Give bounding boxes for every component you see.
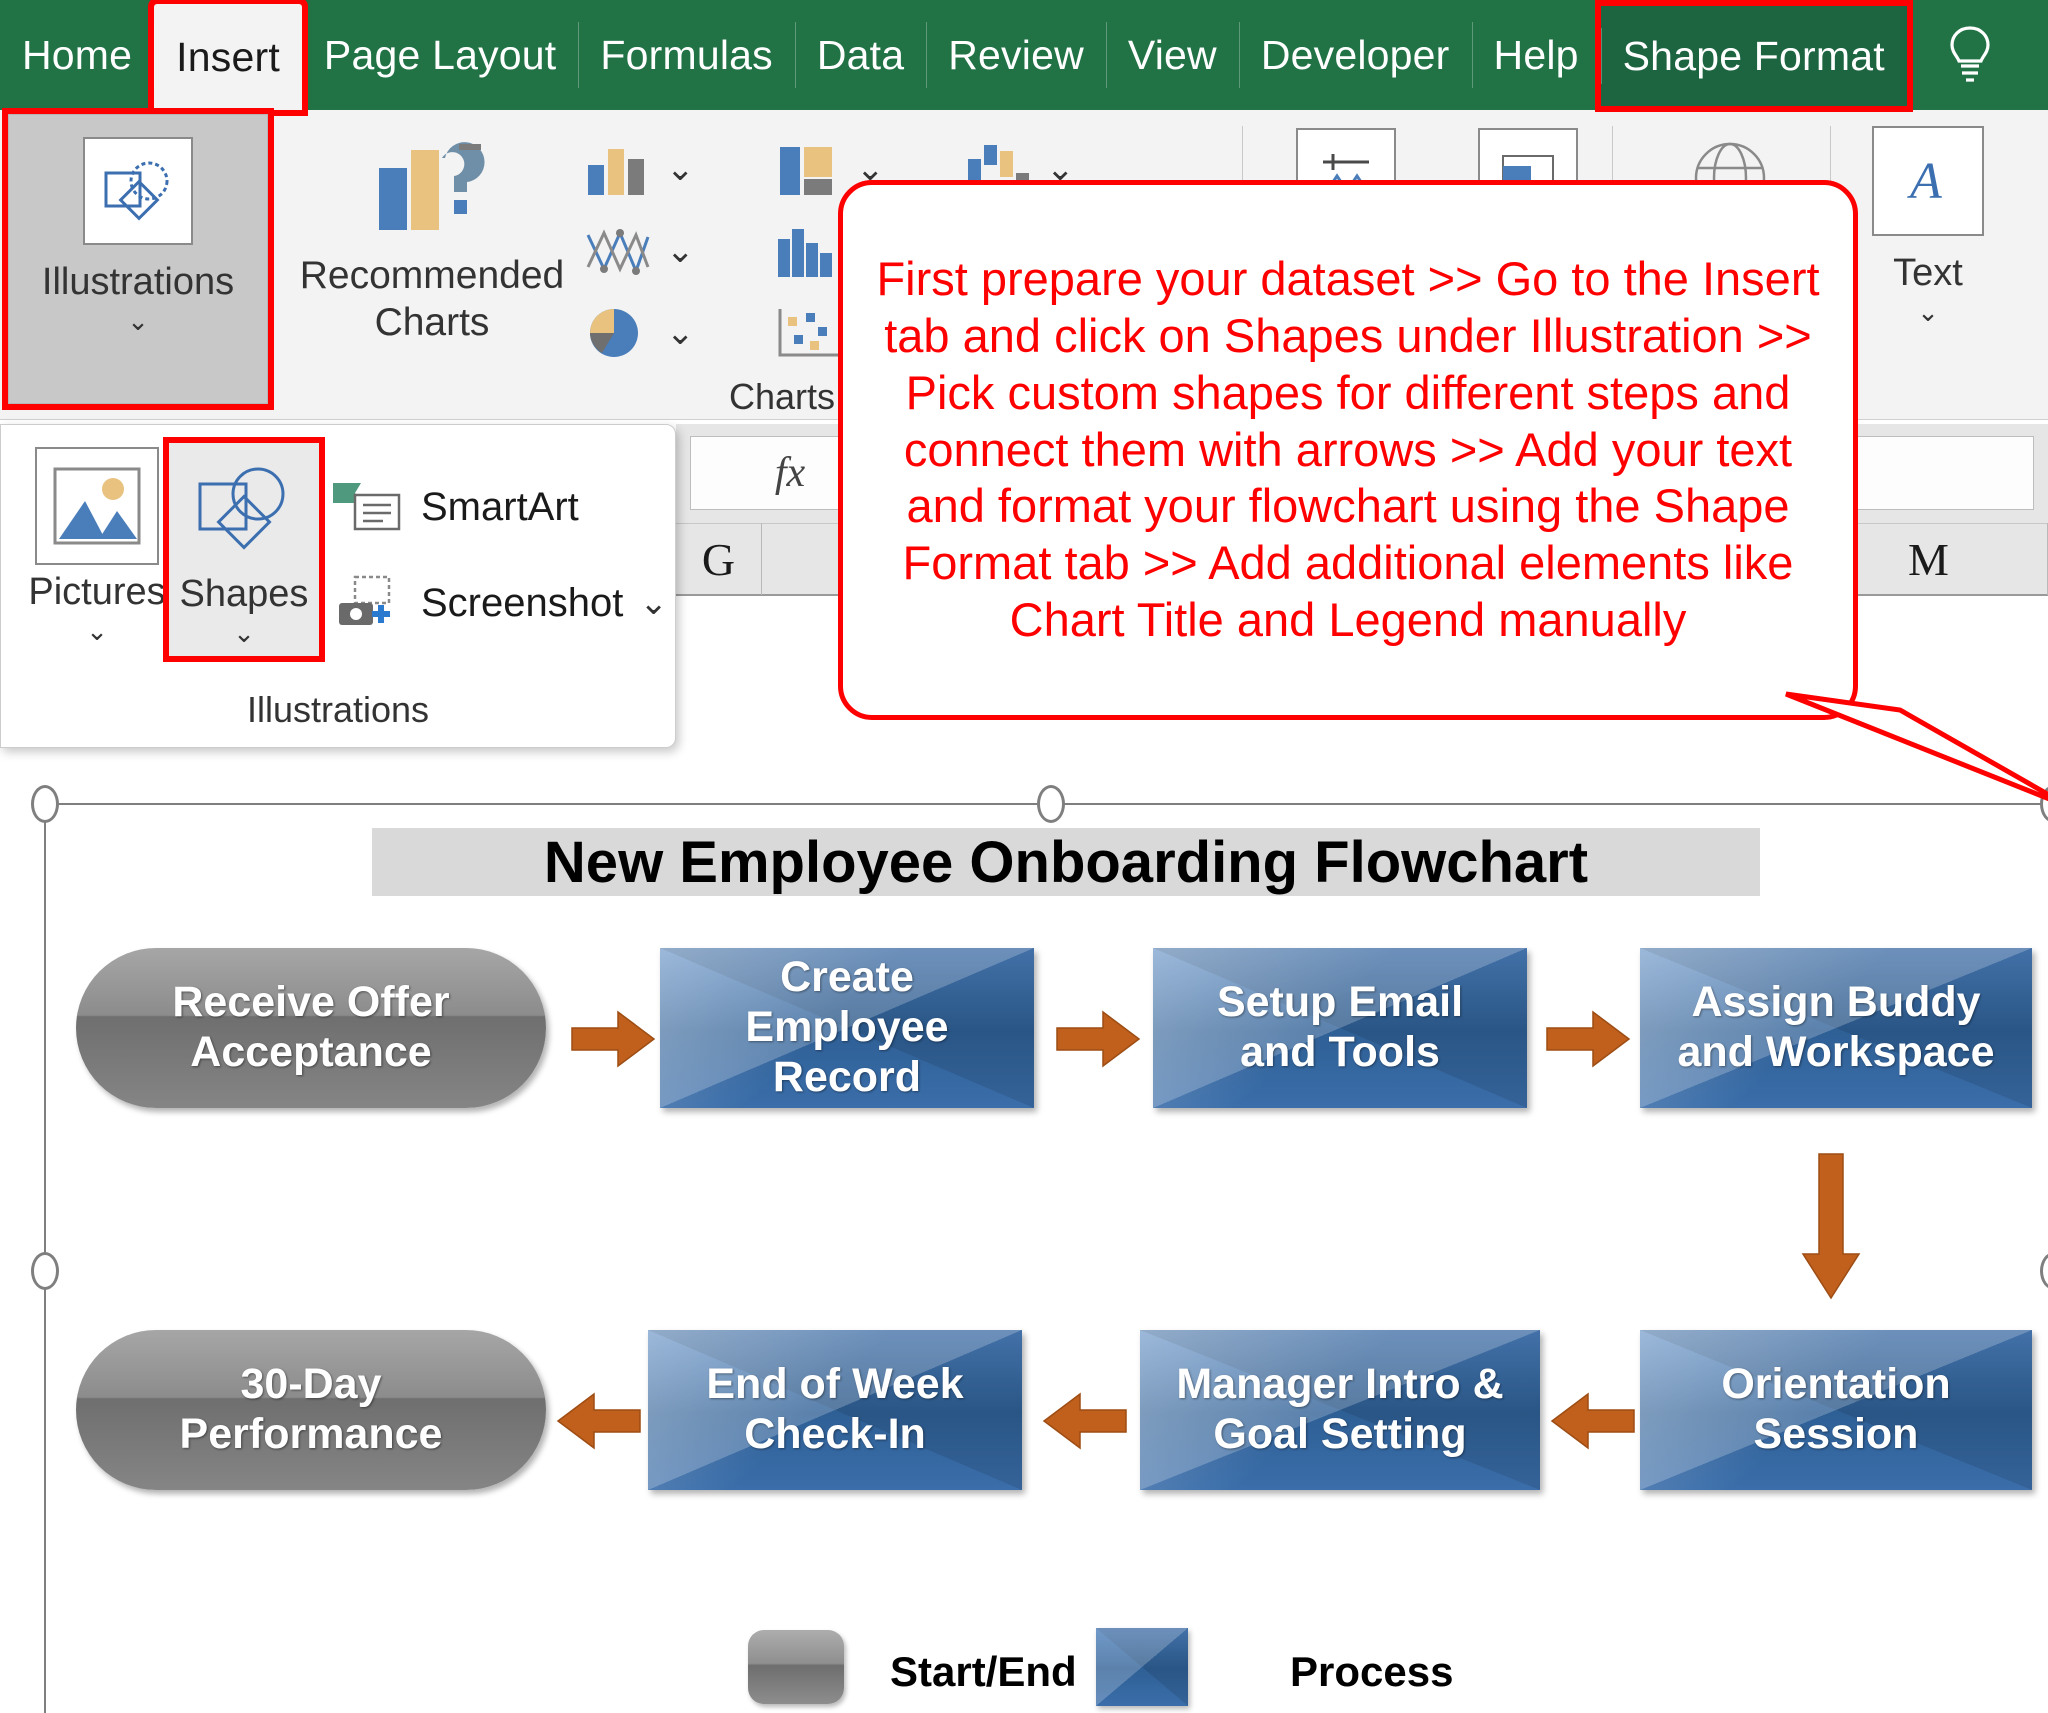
text-group-label: Text [1838, 252, 2018, 295]
excel-window: Home Insert Page Layout Formulas Data Re… [0, 0, 2048, 1713]
node-label: CreateEmployeeRecord [745, 953, 948, 1103]
column-chart-icon [582, 139, 656, 199]
chevron-down-icon: ⌄ [175, 620, 313, 646]
tab-view-label: View [1128, 32, 1217, 79]
node-label: OrientationSession [1721, 1360, 1950, 1460]
waterfall-chart-icon [772, 139, 846, 199]
tab-developer-label: Developer [1261, 32, 1450, 79]
illustrations-group-button[interactable]: Illustrations ⌄ [8, 114, 268, 404]
chevron-down-icon[interactable]: ⌄ [666, 231, 695, 271]
node-label: End of WeekCheck-In [706, 1360, 963, 1460]
tell-me-button[interactable] [1933, 0, 2007, 110]
tab-help[interactable]: Help [1472, 0, 1601, 110]
legend-label-process: Process [1290, 1648, 1453, 1696]
flowchart-arrow-right-2 [1055, 1008, 1141, 1075]
tab-home-label: Home [22, 32, 132, 79]
tab-review[interactable]: Review [926, 0, 1106, 110]
tab-home[interactable]: Home [0, 0, 154, 110]
illustrations-dropdown-footer-label: Illustrations [1, 689, 675, 731]
tab-formulas[interactable]: Formulas [578, 0, 794, 110]
flowchart-arrow-left-1 [556, 1390, 642, 1457]
pie-chart-button[interactable]: ⌄ [582, 292, 772, 374]
dropdown-item-pictures[interactable]: Pictures ⌄ [27, 447, 167, 644]
instruction-callout: First prepare your dataset >> Go to the … [838, 180, 1858, 720]
flowchart-node-create-employee-record[interactable]: CreateEmployeeRecord [660, 948, 1034, 1108]
tab-developer[interactable]: Developer [1239, 0, 1472, 110]
illustrations-label: Illustrations [42, 261, 234, 304]
selection-handle-middle-left[interactable] [31, 1252, 59, 1290]
svg-text:A: A [1907, 153, 1942, 210]
illustrations-icon-frame [83, 137, 193, 245]
tab-insert[interactable]: Insert [154, 4, 302, 110]
chevron-down-icon[interactable]: ⌄ [666, 313, 695, 353]
dropdown-right-column: SmartArt Screenshot ⌄ [331, 459, 668, 651]
flowchart-node-30-day-performance[interactable]: 30-DayPerformance [76, 1330, 546, 1490]
dropdown-item-screenshot[interactable]: Screenshot ⌄ [331, 555, 668, 651]
legend-swatch-start-end [748, 1630, 844, 1704]
shapes-icon [100, 157, 176, 225]
dropdown-item-shapes[interactable]: Shapes ⌄ [169, 443, 319, 656]
tab-view[interactable]: View [1106, 0, 1239, 110]
tab-review-label: Review [948, 32, 1084, 79]
flowchart-node-setup-email-and-tools[interactable]: Setup Emailand Tools [1153, 948, 1527, 1108]
tab-help-label: Help [1494, 32, 1579, 79]
legend-label-start-end: Start/End [890, 1648, 1077, 1696]
chevron-down-icon[interactable]: ⌄ [639, 583, 668, 623]
chevron-down-icon[interactable]: ⌄ [666, 149, 695, 189]
tab-shape-format[interactable]: Shape Format [1601, 6, 1907, 106]
flowchart-node-receive-offer-acceptance[interactable]: Receive OfferAcceptance [76, 948, 546, 1108]
flowchart-arrow-left-3 [1550, 1390, 1636, 1457]
dropdown-item-pictures-label: Pictures [27, 571, 167, 614]
tab-page-layout[interactable]: Page Layout [302, 0, 578, 110]
tab-insert-label: Insert [176, 34, 280, 81]
flowchart-node-end-of-week-check-in[interactable]: End of WeekCheck-In [648, 1330, 1022, 1490]
line-chart-button[interactable]: ⌄ [582, 210, 772, 292]
flowchart-node-assign-buddy-and-workspace[interactable]: Assign Buddyand Workspace [1640, 948, 2032, 1108]
selection-handle-top-center[interactable] [1037, 785, 1065, 823]
fx-icon: fx [775, 449, 805, 497]
flowchart-arrow-right-3 [1545, 1008, 1631, 1075]
shapes-icon-frame [182, 451, 306, 569]
chevron-down-icon: ⌄ [27, 618, 167, 644]
dropdown-item-shapes-label: Shapes [175, 573, 313, 616]
tab-page-layout-label: Page Layout [324, 32, 556, 79]
chevron-down-icon: ⌄ [127, 308, 149, 334]
text-group-button[interactable]: A Text ⌄ [1838, 126, 2018, 325]
legend-swatch-process [1096, 1628, 1188, 1706]
recommended-charts-icon [367, 128, 497, 240]
screenshot-icon [331, 573, 405, 633]
dropdown-item-smartart-label: SmartArt [421, 485, 579, 530]
flowchart-title: New Employee Onboarding Flowchart [372, 828, 1760, 896]
selection-handle-top-left[interactable] [31, 785, 59, 823]
node-label: Receive OfferAcceptance [172, 978, 449, 1078]
node-label: Setup Emailand Tools [1217, 978, 1463, 1078]
dropdown-item-screenshot-label: Screenshot [421, 581, 623, 626]
illustrations-dropdown-panel: Pictures ⌄ Shapes ⌄ SmartArt [0, 424, 676, 748]
worksheet-canvas [0, 596, 2048, 1713]
flowchart-arrow-right-1 [570, 1008, 656, 1075]
tab-shape-format-label: Shape Format [1623, 33, 1885, 80]
pie-chart-icon [582, 303, 656, 363]
flowchart-node-orientation-session[interactable]: OrientationSession [1640, 1330, 2032, 1490]
column-header-g[interactable]: G [676, 523, 762, 595]
chevron-down-icon: ⌄ [1838, 299, 2018, 325]
flowchart-arrow-left-2 [1042, 1390, 1128, 1457]
dropdown-item-smartart[interactable]: SmartArt [331, 459, 668, 555]
pictures-icon-frame [35, 447, 159, 565]
line-chart-icon [582, 221, 656, 281]
scatter-chart-icon [772, 303, 846, 363]
shapes-icon [192, 462, 296, 558]
callout-tail [1780, 690, 2048, 830]
text-box-icon: A [1900, 148, 1956, 214]
recommended-charts-label-line2: Charts [292, 301, 572, 346]
instruction-callout-text: First prepare your dataset >> Go to the … [869, 251, 1827, 649]
recommended-charts-button[interactable]: Recommended Charts [292, 128, 572, 346]
ribbon-tab-bar: Home Insert Page Layout Formulas Data Re… [0, 0, 2048, 110]
pictures-icon [51, 463, 143, 549]
node-label: Assign Buddyand Workspace [1677, 978, 1994, 1078]
smartart-icon [331, 477, 405, 537]
flowchart-node-manager-intro-goal-setting[interactable]: Manager Intro &Goal Setting [1140, 1330, 1540, 1490]
column-chart-button[interactable]: ⌄ [582, 128, 772, 210]
tab-data-label: Data [817, 32, 904, 79]
lightbulb-icon [1947, 24, 1993, 86]
tab-formulas-label: Formulas [600, 32, 772, 79]
node-label: Manager Intro &Goal Setting [1176, 1360, 1503, 1460]
text-box-frame: A [1872, 126, 1984, 236]
tab-data[interactable]: Data [795, 0, 926, 110]
histogram-chart-icon [772, 221, 846, 281]
flowchart-arrow-down [1800, 1152, 1862, 1305]
recommended-charts-label-line1: Recommended [292, 254, 572, 299]
node-label: 30-DayPerformance [180, 1360, 443, 1460]
